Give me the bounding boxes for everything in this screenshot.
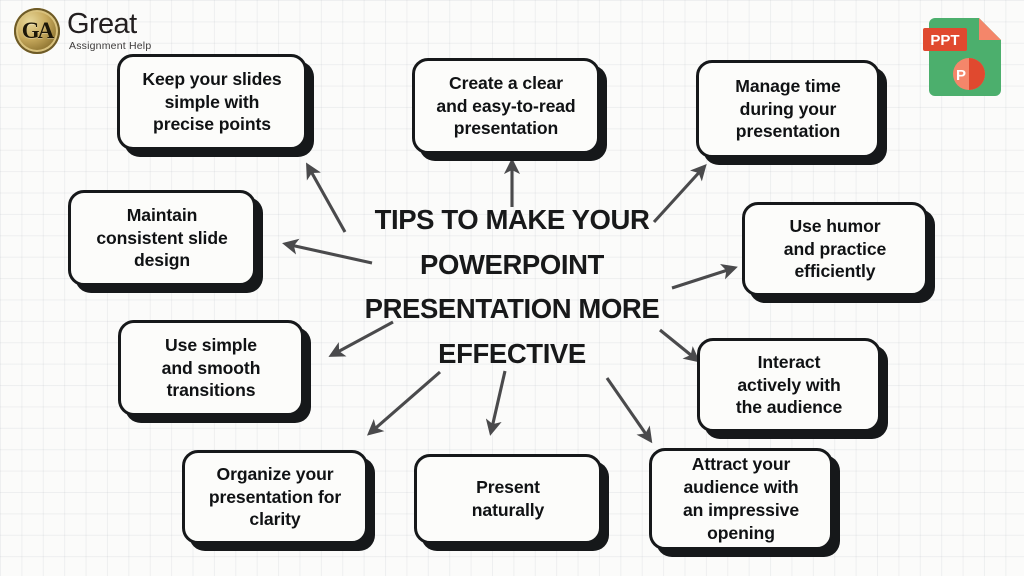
- tip-box-organize-for-clarity[interactable]: Organize your presentation for clarity: [182, 450, 368, 544]
- tip-box-manage-time[interactable]: Manage time during your presentation: [696, 60, 880, 158]
- ppt-badge-label: PPT: [930, 32, 959, 49]
- tip-box-label: Manage time during your presentation: [735, 75, 840, 144]
- tip-box-label: Attract your audience with an impressive…: [683, 453, 799, 544]
- arrow-to-organize: [370, 372, 440, 433]
- tip-box-create-clear-easy-read[interactable]: Create a clear and easy-to-read presenta…: [412, 58, 600, 154]
- tip-box-keep-slides-simple[interactable]: Keep your slides simple with precise poi…: [117, 54, 307, 150]
- logo-wordmark: Great Assignment Help: [67, 10, 151, 52]
- logo-tagline: Assignment Help: [69, 41, 151, 52]
- tip-box-label: Use simple and smooth transitions: [162, 334, 261, 403]
- tip-box-use-simple-transitions[interactable]: Use simple and smooth transitions: [118, 320, 304, 416]
- tip-box-label: Maintain consistent slide design: [96, 204, 227, 273]
- arrow-to-attract: [607, 378, 650, 440]
- arrow-to-present-naturally: [491, 371, 505, 432]
- tip-box-label: Use humor and practice efficiently: [784, 215, 886, 284]
- tip-box-present-naturally[interactable]: Present naturally: [414, 454, 602, 544]
- logo-brand-name: Great: [67, 10, 151, 39]
- tip-box-label: Keep your slides simple with precise poi…: [142, 68, 281, 137]
- tip-box-interact-actively[interactable]: Interact actively with the audience: [697, 338, 881, 432]
- tip-box-label: Present naturally: [472, 476, 544, 522]
- tip-box-use-humor-practice[interactable]: Use humor and practice efficiently: [742, 202, 928, 296]
- tip-box-maintain-consistent[interactable]: Maintain consistent slide design: [68, 190, 256, 286]
- tip-box-label: Organize your presentation for clarity: [209, 463, 341, 532]
- ppt-inner-label: P: [956, 67, 966, 84]
- infographic-canvas: GA Great Assignment Help PPT P TIPS TO M…: [0, 0, 1024, 576]
- logo-monogram: GA: [14, 8, 60, 54]
- brand-logo: GA Great Assignment Help: [14, 8, 151, 54]
- tip-box-attract-audience[interactable]: Attract your audience with an impressive…: [649, 448, 833, 550]
- logo-emblem-icon: GA: [14, 8, 60, 54]
- tip-box-label: Interact actively with the audience: [736, 351, 842, 420]
- tip-box-label: Create a clear and easy-to-read presenta…: [436, 72, 575, 141]
- page-title: TIPS TO MAKE YOUR POWERPOINT PRESENTATIO…: [333, 198, 691, 376]
- powerpoint-file-icon: PPT P: [923, 12, 1007, 100]
- ppt-fold-corner-icon: [979, 18, 1001, 40]
